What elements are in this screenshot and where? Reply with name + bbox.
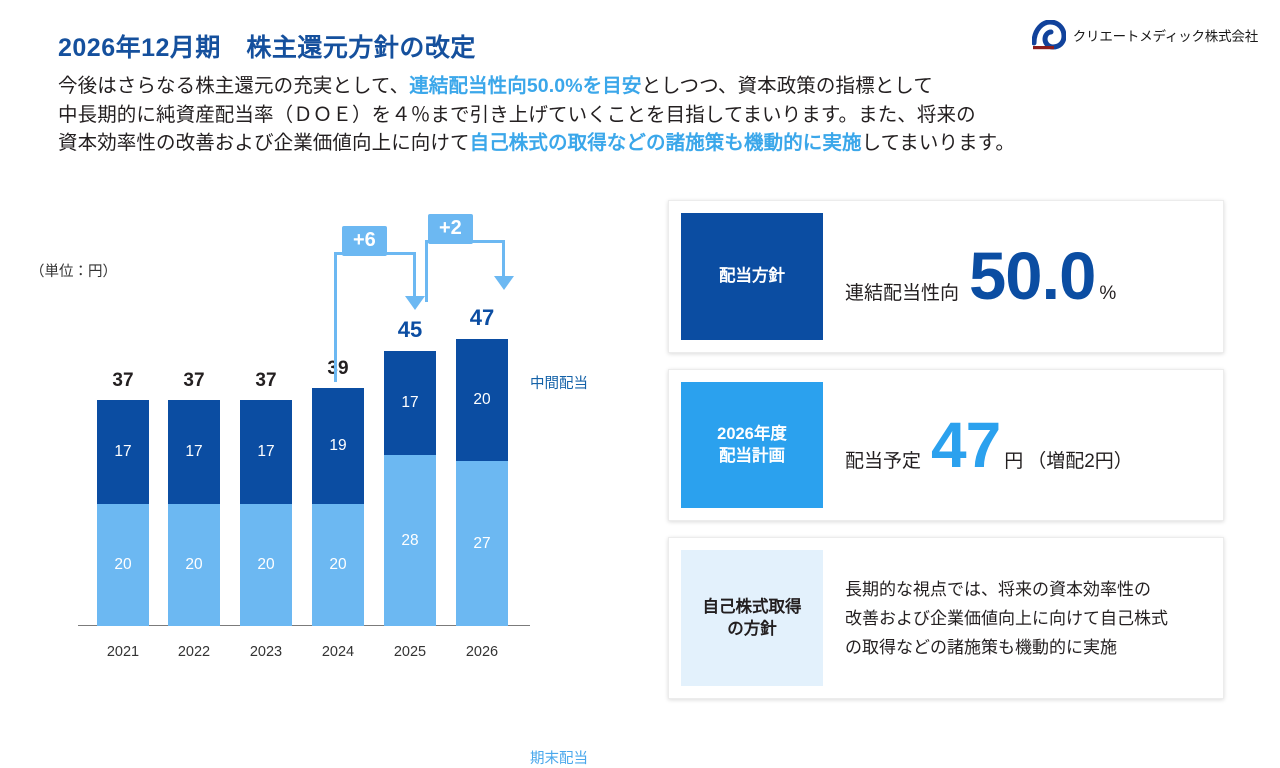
bar-segment-interim-2026: 20 <box>456 339 508 461</box>
x-label-2023: 2023 <box>240 644 292 660</box>
policy-cards: 配当方針 連結配当性向 50.0 % 2026年度 配当計画 配当予定 47 円… <box>668 200 1224 715</box>
card-dividend-plan-body: 配当予定 47 円 （増配2円） <box>823 370 1223 520</box>
card-buyback-text-line-2: 改善および企業価値向上に向けて自己株式 <box>845 604 1168 633</box>
dividend-stacked-bar-chart: （単位：円） +6 +2 37 17 20 2021 37 17 20 2022 <box>0 190 650 710</box>
card-buyback-text-line-1: 長期的な視点では、将来の資本効率性の <box>845 575 1168 604</box>
metric-planned-dividend-suffix: （増配2円） <box>1027 446 1133 473</box>
x-label-2022: 2022 <box>168 644 220 660</box>
metric-planned-dividend-value: 47 <box>931 415 1000 476</box>
bar-total-2024: 39 <box>312 358 364 380</box>
intro-line-3-b: してまいります。 <box>862 132 1015 154</box>
page-title: 2026年12月期 株主還元方針の改定 <box>58 28 476 64</box>
bar-segment-yearend-2022: 20 <box>168 504 220 626</box>
bar-group-2021: 37 17 20 2021 <box>97 400 149 626</box>
bar-total-2025: 45 <box>384 317 436 343</box>
intro-highlight-buyback: 自己株式の取得などの諸施策も機動的に実施 <box>470 132 862 154</box>
legend-yearend-dividend: 期末配当 <box>530 747 588 768</box>
bar-segment-interim-2023: 17 <box>240 400 292 504</box>
bar-segment-yearend-2026: 27 <box>456 461 508 626</box>
bar-total-2021: 37 <box>97 370 149 392</box>
metric-planned-dividend-label: 配当予定 <box>845 446 921 473</box>
bar-segment-yearend-2023: 20 <box>240 504 292 626</box>
company-logo: クリエートメディック株式会社 <box>1032 20 1258 50</box>
bar-segment-yearend-2024: 20 <box>312 504 364 626</box>
delta-connector-2-drop <box>502 240 505 278</box>
company-name: クリエートメディック株式会社 <box>1073 25 1258 45</box>
chart-plot-area: +6 +2 37 17 20 2021 37 17 20 2022 37 17 … <box>78 190 518 670</box>
bar-total-2022: 37 <box>168 370 220 392</box>
metric-planned-dividend: 配当予定 47 円 （増配2円） <box>845 415 1133 476</box>
delta-badge-2: +2 <box>428 214 473 244</box>
intro-line-3: 資本効率性の改善および企業価値向上に向けて自己株式の取得などの諸施策も機動的に実… <box>58 129 1198 158</box>
metric-payout-ratio-unit: % <box>1099 283 1116 305</box>
bar-total-2023: 37 <box>240 370 292 392</box>
delta-connector-2-arrow-icon <box>494 276 514 290</box>
metric-payout-ratio-value: 50.0 <box>969 245 1095 309</box>
intro-line-1-b: としつつ、資本政策の指標として <box>641 75 932 97</box>
bar-group-2026: 47 20 27 2026 <box>456 339 508 626</box>
card-dividend-policy-tab: 配当方針 <box>681 213 823 340</box>
card-buyback-policy-text: 長期的な視点では、将来の資本効率性の 改善および企業価値向上に向けて自己株式 の… <box>845 575 1168 662</box>
bar-segment-interim-2021: 17 <box>97 400 149 504</box>
intro-line-1: 今後はさらなる株主還元の充実として、連結配当性向50.0%を目安としつつ、資本政… <box>58 72 1198 101</box>
x-label-2026: 2026 <box>456 644 508 660</box>
legend-interim-dividend: 中間配当 <box>530 372 588 393</box>
bar-group-2025: 45 17 28 2025 <box>384 351 436 626</box>
bar-group-2023: 37 17 20 2023 <box>240 400 292 626</box>
create-medic-m-mark-icon <box>1032 20 1066 50</box>
bar-segment-interim-2024: 19 <box>312 388 364 504</box>
card-dividend-policy: 配当方針 連結配当性向 50.0 % <box>668 200 1224 353</box>
delta-connector-2-riser <box>425 240 428 302</box>
card-dividend-plan: 2026年度 配当計画 配当予定 47 円 （増配2円） <box>668 369 1224 521</box>
intro-paragraph: 今後はさらなる株主還元の充実として、連結配当性向50.0%を目安としつつ、資本政… <box>58 72 1198 158</box>
bar-total-2026: 47 <box>456 305 508 331</box>
x-label-2024: 2024 <box>312 644 364 660</box>
bar-segment-yearend-2025: 28 <box>384 455 436 626</box>
bar-group-2022: 37 17 20 2022 <box>168 400 220 626</box>
metric-payout-ratio: 連結配当性向 50.0 % <box>845 245 1116 309</box>
bar-segment-interim-2022: 17 <box>168 400 220 504</box>
intro-line-3-a: 資本効率性の改善および企業価値向上に向けて <box>58 132 470 154</box>
card-dividend-plan-tab: 2026年度 配当計画 <box>681 382 823 508</box>
delta-connector-6-drop <box>413 252 416 298</box>
card-buyback-policy-tab: 自己株式取得 の方針 <box>681 550 823 686</box>
metric-planned-dividend-unit: 円 <box>1004 446 1023 473</box>
bar-segment-interim-2025: 17 <box>384 351 436 455</box>
delta-connector-6-riser <box>334 252 337 382</box>
delta-connector-6-arrow-icon <box>405 296 425 310</box>
metric-payout-ratio-label: 連結配当性向 <box>845 278 959 305</box>
intro-highlight-payout-ratio: 連結配当性向50.0%を目安 <box>409 75 641 97</box>
delta-badge-6: +6 <box>342 226 387 256</box>
intro-line-1-a: 今後はさらなる株主還元の充実として、 <box>58 75 409 97</box>
card-buyback-text-line-3: の取得などの諸施策も機動的に実施 <box>845 633 1168 662</box>
intro-line-2: 中長期的に純資産配当率（ＤＯＥ）を４％まで引き上げていくことを目指してまいります… <box>58 101 1198 130</box>
x-label-2025: 2025 <box>384 644 436 660</box>
x-label-2021: 2021 <box>97 644 149 660</box>
card-buyback-policy-body: 長期的な視点では、将来の資本効率性の 改善および企業価値向上に向けて自己株式 の… <box>823 538 1223 698</box>
bar-segment-yearend-2021: 20 <box>97 504 149 626</box>
card-buyback-policy: 自己株式取得 の方針 長期的な視点では、将来の資本効率性の 改善および企業価値向… <box>668 537 1224 699</box>
bar-group-2024: 39 19 20 2024 <box>312 388 364 626</box>
card-dividend-policy-body: 連結配当性向 50.0 % <box>823 201 1223 352</box>
